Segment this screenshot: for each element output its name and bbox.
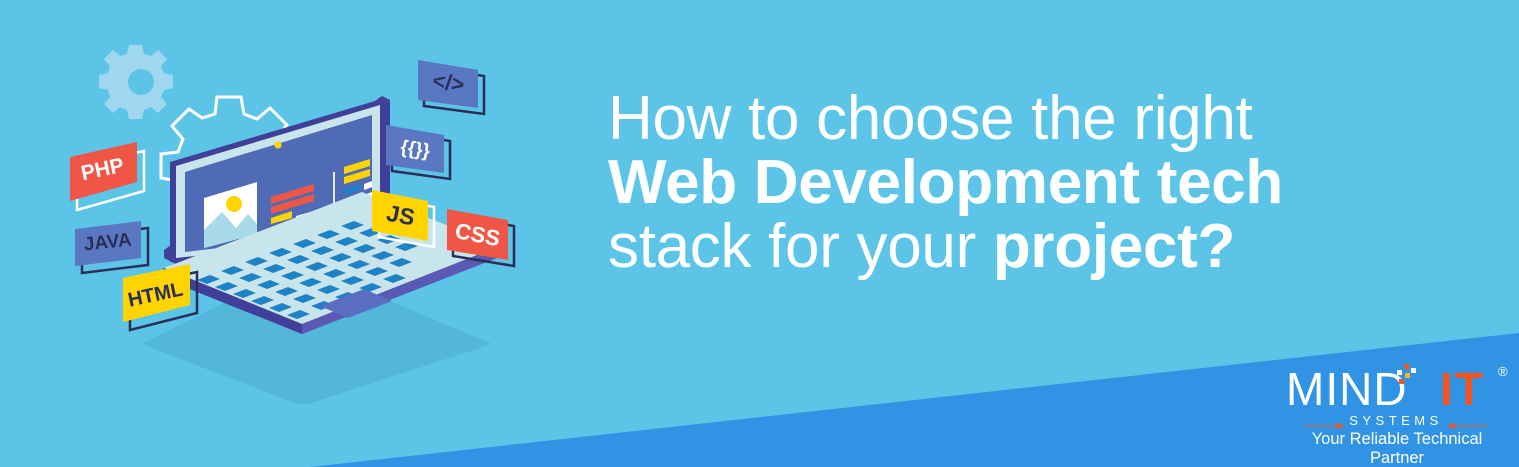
laptop-camera bbox=[274, 141, 281, 148]
headline-line-3: stack for your project? bbox=[608, 216, 1408, 278]
headline: How to choose the right Web Development … bbox=[608, 88, 1408, 278]
gear-small-filled bbox=[99, 45, 173, 119]
svg-text:JS: JS bbox=[384, 200, 417, 231]
headline-line-1: How to choose the right bbox=[608, 88, 1408, 150]
tag-php: PHP bbox=[70, 142, 144, 210]
company-logo[interactable]: MIND IT ® SYSTEMS Your Reliable Technica… bbox=[1286, 366, 1506, 458]
headline-line-3-bold: project? bbox=[993, 212, 1235, 281]
tag-java: JAVA bbox=[75, 221, 148, 273]
logo-systems-text: SYSTEMS bbox=[1349, 413, 1443, 428]
tag-code-angle: </> bbox=[418, 60, 484, 114]
logo-rule-left-icon bbox=[1305, 417, 1345, 425]
logo-it-text: IT bbox=[1440, 362, 1485, 416]
headline-line-3-regular: stack for your bbox=[608, 212, 993, 281]
svg-text:</>: </> bbox=[431, 68, 466, 98]
logo-tagline: Your Reliable Technical Partner bbox=[1286, 430, 1508, 467]
logo-dots-decoration bbox=[1390, 364, 1416, 386]
tag-html: HTML bbox=[123, 264, 197, 330]
banner-root: PHP JAVA HTML </> bbox=[0, 0, 1519, 467]
logo-wordmark: MIND IT ® bbox=[1286, 366, 1506, 414]
headline-line-2: Web Development tech bbox=[608, 152, 1408, 214]
logo-systems-line: SYSTEMS bbox=[1286, 412, 1506, 428]
laptop-illustration: PHP JAVA HTML </> bbox=[52, 14, 552, 404]
tag-code-braces: {{}} bbox=[386, 125, 450, 179]
logo-registered-icon: ® bbox=[1498, 364, 1508, 379]
logo-rule-right-icon bbox=[1447, 417, 1487, 425]
